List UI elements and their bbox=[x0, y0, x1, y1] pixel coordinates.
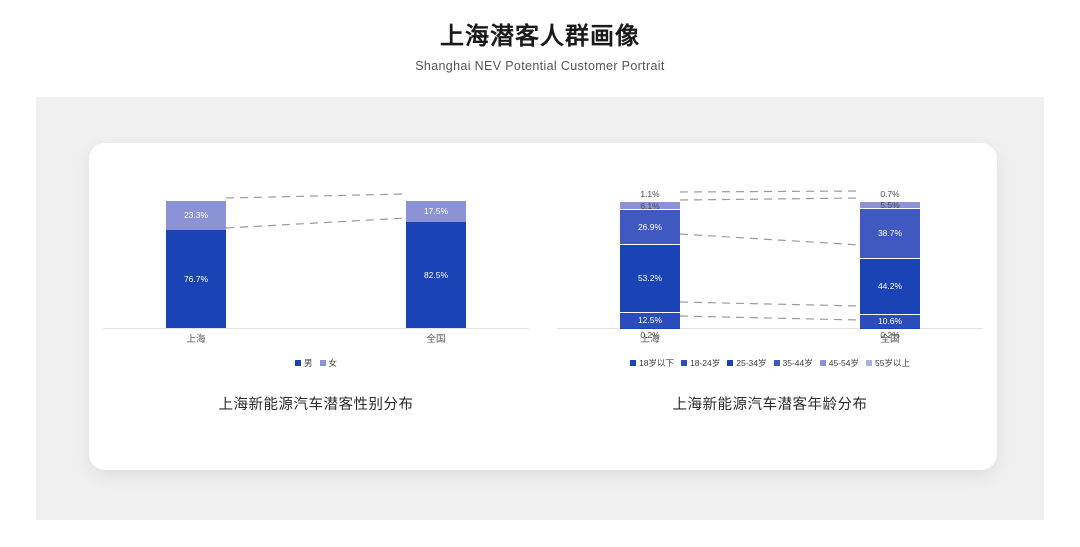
gender-bar-shanghai[interactable]: 76.7% 23.3% bbox=[166, 200, 226, 328]
gender-seg-male-national[interactable]: 82.5% bbox=[406, 222, 466, 328]
age-seg-35to44-shanghai[interactable]: 26.9% bbox=[620, 209, 680, 243]
chart-gender: 76.7% 23.3% 82.5% 17.5% 上海 全国 bbox=[89, 143, 543, 470]
legend-label: 女 bbox=[329, 359, 338, 368]
gender-seg-label: 76.7% bbox=[184, 275, 208, 284]
legend-label: 男 bbox=[304, 359, 313, 368]
age-seg-label: 1.1% bbox=[640, 190, 659, 199]
gender-tick-national: 全国 bbox=[391, 335, 481, 345]
age-seg-label: 0.7% bbox=[880, 190, 899, 199]
legend-label: 25-34岁 bbox=[736, 359, 766, 368]
gender-axis-line bbox=[103, 328, 529, 329]
age-tick-shanghai: 上海 bbox=[605, 335, 695, 345]
gender-seg-female-national[interactable]: 17.5% bbox=[406, 200, 466, 222]
chart-age: 0.2% 12.5% 53.2% 26.9% 6.1% 1.1% bbox=[543, 143, 997, 470]
legend-item-male[interactable]: 男 bbox=[295, 359, 313, 368]
gender-legend: 男 女 bbox=[89, 359, 543, 368]
age-seg-label: 6.1% bbox=[640, 202, 659, 211]
legend-label: 55岁以上 bbox=[875, 359, 910, 368]
age-bar-shanghai[interactable]: 0.2% 12.5% 53.2% 26.9% 6.1% 1.1% bbox=[620, 200, 680, 328]
age-seg-label: 44.2% bbox=[878, 282, 902, 291]
gender-tick-shanghai: 上海 bbox=[151, 335, 241, 345]
gender-chart-caption: 上海新能源汽车潜客性别分布 bbox=[89, 393, 543, 414]
legend-item-under18[interactable]: 18岁以下 bbox=[630, 359, 674, 368]
age-tick-national: 全国 bbox=[845, 335, 935, 345]
legend-swatch-icon bbox=[681, 360, 687, 366]
legend-swatch-icon bbox=[727, 360, 733, 366]
page-title: 上海潜客人群画像 bbox=[0, 22, 1080, 52]
age-seg-label: 12.5% bbox=[638, 316, 662, 325]
age-seg-label: 53.2% bbox=[638, 274, 662, 283]
age-seg-45to54-shanghai[interactable]: 6.1% bbox=[620, 201, 680, 209]
gender-seg-female-shanghai[interactable]: 23.3% bbox=[166, 200, 226, 230]
age-seg-label: 10.6% bbox=[878, 317, 902, 326]
gender-tick-labels: 上海 全国 bbox=[89, 335, 543, 349]
age-bar-national[interactable]: 0.2% 10.6% 44.2% 38.7% 5.5% 0.7% bbox=[860, 200, 920, 328]
age-seg-25to34-national[interactable]: 44.2% bbox=[860, 258, 920, 315]
legend-label: 45-54岁 bbox=[829, 359, 859, 368]
age-tick-labels: 上海 全国 bbox=[543, 335, 997, 349]
age-seg-label: 38.7% bbox=[878, 229, 902, 238]
age-plot-area: 0.2% 12.5% 53.2% 26.9% 6.1% 1.1% bbox=[543, 189, 997, 329]
legend-item-female[interactable]: 女 bbox=[320, 359, 338, 368]
legend-swatch-icon bbox=[295, 360, 301, 366]
charts-row: 76.7% 23.3% 82.5% 17.5% 上海 全国 bbox=[89, 143, 997, 470]
age-seg-35to44-national[interactable]: 38.7% bbox=[860, 208, 920, 258]
legend-label: 18-24岁 bbox=[690, 359, 720, 368]
legend-item-45to54[interactable]: 45-54岁 bbox=[820, 359, 859, 368]
age-seg-45to54-national[interactable]: 5.5% bbox=[860, 201, 920, 208]
age-chart-caption: 上海新能源汽车潜客年龄分布 bbox=[543, 393, 997, 414]
legend-label: 18岁以下 bbox=[639, 359, 674, 368]
gender-seg-male-shanghai[interactable]: 76.7% bbox=[166, 230, 226, 328]
legend-item-35to44[interactable]: 35-44岁 bbox=[774, 359, 813, 368]
gender-seg-label: 17.5% bbox=[424, 207, 448, 216]
gender-plot-area: 76.7% 23.3% 82.5% 17.5% bbox=[89, 189, 543, 329]
legend-item-18to24[interactable]: 18-24岁 bbox=[681, 359, 720, 368]
age-seg-label: 5.5% bbox=[880, 201, 899, 210]
legend-swatch-icon bbox=[774, 360, 780, 366]
legend-item-over55[interactable]: 55岁以上 bbox=[866, 359, 910, 368]
legend-label: 35-44岁 bbox=[783, 359, 813, 368]
legend-swatch-icon bbox=[866, 360, 872, 366]
legend-swatch-icon bbox=[820, 360, 826, 366]
age-legend: 18岁以下 18-24岁 25-34岁 35-44岁 45-54岁 55岁以上 bbox=[543, 359, 997, 368]
legend-item-25to34[interactable]: 25-34岁 bbox=[727, 359, 766, 368]
age-seg-label: 26.9% bbox=[638, 223, 662, 232]
age-seg-18to24-national[interactable]: 10.6% bbox=[860, 314, 920, 328]
age-seg-18to24-shanghai[interactable]: 12.5% bbox=[620, 312, 680, 328]
gender-seg-label: 82.5% bbox=[424, 271, 448, 280]
page-header: 上海潜客人群画像 Shanghai NEV Potential Customer… bbox=[0, 0, 1080, 73]
age-axis-line bbox=[557, 328, 983, 329]
age-seg-25to34-shanghai[interactable]: 53.2% bbox=[620, 244, 680, 312]
age-seg-over55-national[interactable]: 0.7% bbox=[860, 200, 920, 201]
page-subtitle: Shanghai NEV Potential Customer Portrait bbox=[0, 59, 1080, 73]
gender-connector-lines bbox=[89, 189, 543, 329]
legend-swatch-icon bbox=[320, 360, 326, 366]
age-seg-over55-shanghai[interactable]: 1.1% bbox=[620, 200, 680, 201]
gender-seg-label: 23.3% bbox=[184, 211, 208, 220]
gender-bar-national[interactable]: 82.5% 17.5% bbox=[406, 200, 466, 328]
legend-swatch-icon bbox=[630, 360, 636, 366]
age-connector-lines bbox=[543, 189, 997, 329]
